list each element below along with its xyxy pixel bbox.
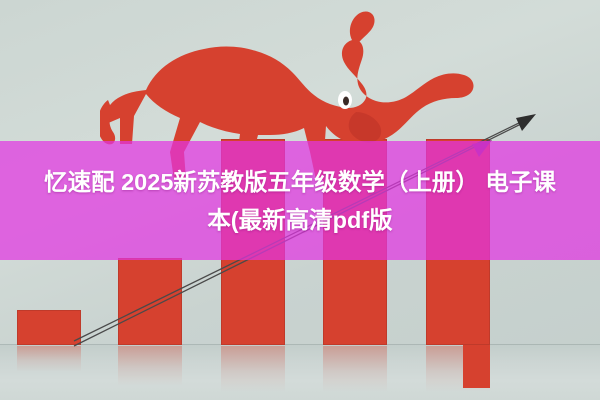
banner-image: 忆速配 2025新苏教版五年级数学（上册） 电子课 本(最新高清pdf版 [0,0,600,400]
arrow-head-primary [516,114,536,131]
caption-line-2: 本(最新高清pdf版 [207,201,392,239]
banner-caption: 忆速配 2025新苏教版五年级数学（上册） 电子课 本(最新高清pdf版 [0,141,600,260]
caption-line-1: 忆速配 2025新苏教版五年级数学（上册） 电子课 [44,163,556,201]
